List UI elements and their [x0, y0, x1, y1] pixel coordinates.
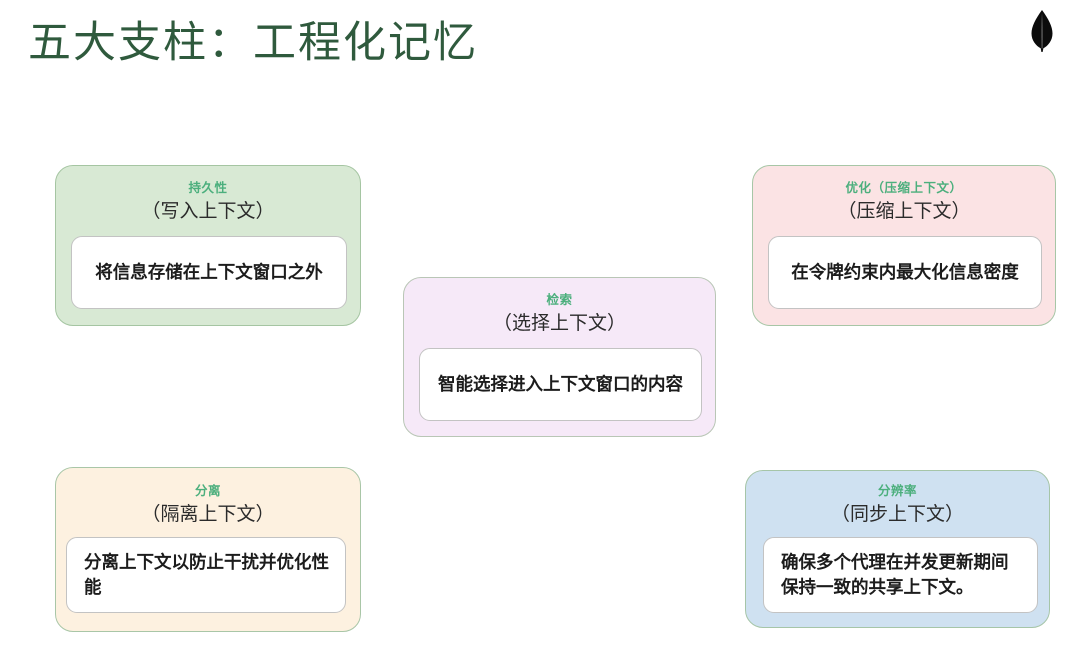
- pillar-subtitle: （同步上下文）: [746, 505, 1049, 524]
- pillar-card-persistence: 持久性 （写入上下文） 将信息存储在上下文窗口之外: [55, 165, 361, 326]
- pillar-body-box: 智能选择进入上下文窗口的内容: [419, 348, 702, 421]
- pillar-label: 优化（压缩上下文）: [753, 182, 1055, 195]
- pillar-body-text: 将信息存储在上下文窗口之外: [72, 260, 346, 285]
- pillar-label: 持久性: [56, 182, 360, 195]
- pillar-body-text: 智能选择进入上下文窗口的内容: [420, 372, 701, 397]
- pillar-body-box: 分离上下文以防止干扰并优化性能: [66, 537, 346, 613]
- pillar-body-text: 确保多个代理在并发更新期间保持一致的共享上下文。: [781, 550, 1025, 600]
- pillar-subtitle: （隔离上下文）: [56, 505, 360, 524]
- pillar-label: 分辨率: [746, 485, 1049, 498]
- pillar-card-resolution: 分辨率 （同步上下文） 确保多个代理在并发更新期间保持一致的共享上下文。: [745, 470, 1050, 628]
- pillar-subtitle: （选择上下文）: [404, 314, 715, 333]
- mongodb-leaf-icon: [1024, 8, 1060, 54]
- pillar-label: 检索: [404, 294, 715, 307]
- pillar-body-text: 分离上下文以防止干扰并优化性能: [84, 550, 333, 600]
- pillar-label: 分离: [56, 485, 360, 498]
- pillar-card-isolation: 分离 （隔离上下文） 分离上下文以防止干扰并优化性能: [55, 467, 361, 632]
- pillar-card-retrieval: 检索 （选择上下文） 智能选择进入上下文窗口的内容: [403, 277, 716, 437]
- pillar-body-box: 将信息存储在上下文窗口之外: [71, 236, 347, 309]
- pillar-body-text: 在令牌约束内最大化信息密度: [769, 260, 1041, 285]
- pillar-body-box: 在令牌约束内最大化信息密度: [768, 236, 1042, 309]
- pillar-body-box: 确保多个代理在并发更新期间保持一致的共享上下文。: [763, 537, 1038, 613]
- pillar-card-optimize: 优化（压缩上下文） （压缩上下文） 在令牌约束内最大化信息密度: [752, 165, 1056, 326]
- pillar-subtitle: （压缩上下文）: [753, 202, 1055, 221]
- page-title: 五大支柱：工程化记忆: [28, 8, 478, 70]
- pillar-subtitle: （写入上下文）: [56, 202, 360, 221]
